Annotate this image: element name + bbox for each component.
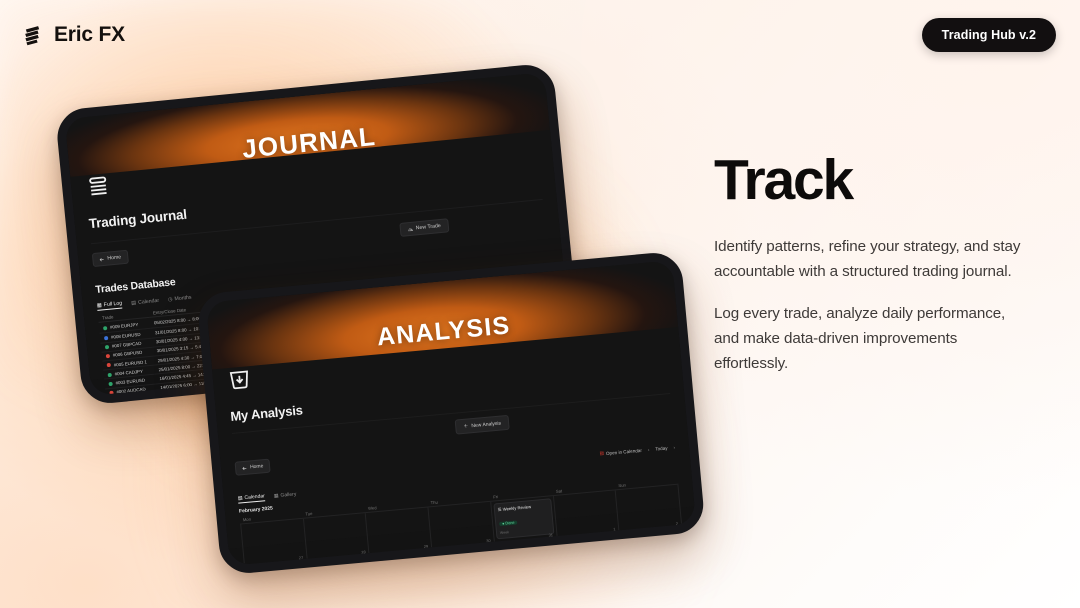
analysis-tab-gallery-label: Gallery	[280, 491, 296, 498]
analysis-screen: ANALYSIS My Analysis ＋ New Analysis	[206, 260, 696, 565]
calendar-red-icon: ▤	[599, 450, 604, 456]
journal-tab-calendar-label: Calendar	[138, 298, 160, 306]
calendar-event-card[interactable]: ☰ Weekly Review● DoneWeek	[493, 498, 554, 539]
stack-layers-icon	[84, 173, 112, 201]
top-bar: Eric FX Trading Hub v.2	[0, 0, 1080, 70]
calendar-event-card[interactable]: ☰ Weekly Outlook● DoneWeek	[247, 563, 308, 565]
calendar-day-cell[interactable]: 27	[241, 519, 307, 566]
journal-new-trade-button[interactable]: New Trade	[399, 218, 449, 237]
journal-tab-calendar[interactable]: ▤ Calendar	[131, 298, 159, 307]
journal-tab-full-log[interactable]: ▦ Full Log	[97, 300, 123, 310]
calendar-today-button[interactable]: Today	[655, 445, 668, 451]
row-status-dot	[109, 391, 113, 395]
calendar-day-number: 27	[298, 555, 303, 560]
calendar-next-button[interactable]: ›	[673, 444, 675, 449]
back-arrow-icon	[99, 256, 104, 261]
analysis-tablet[interactable]: ANALYSIS My Analysis ＋ New Analysis	[196, 251, 706, 576]
journal-new-trade-label: New Trade	[416, 223, 442, 231]
analysis-tab-calendar-label: Calendar	[244, 493, 265, 501]
calendar-day-cell[interactable]: 1	[554, 490, 620, 538]
inbox-tray-down-icon	[226, 366, 253, 393]
journal-tab-months[interactable]: ◷ Months	[168, 295, 192, 303]
copy-block: Track Identify patterns, refine your str…	[714, 152, 1034, 376]
calendar-day-cell[interactable]: 28	[304, 513, 370, 561]
journal-tab-months-label: Months	[174, 295, 192, 303]
layered-slash-logo-icon	[20, 23, 45, 48]
journal-home-label: Home	[107, 254, 121, 261]
row-status-dot	[103, 326, 107, 330]
row-status-dot	[104, 336, 108, 340]
journal-tab-full-log-label: Full Log	[104, 300, 123, 308]
table-icon: ▦	[97, 302, 102, 308]
analysis-home-button[interactable]: Home	[235, 459, 271, 476]
plus-icon: ＋	[463, 422, 469, 429]
open-in-calendar-label: Open in Calendar	[606, 447, 642, 455]
chart-bars-icon	[408, 226, 413, 231]
calendar-day-number: 28	[361, 549, 366, 554]
page-title: Track	[714, 152, 1034, 209]
calendar-event-status-badge: ● Done	[499, 520, 518, 526]
calendar-day-number: 29	[423, 543, 428, 548]
trading-hub-badge[interactable]: Trading Hub v.2	[922, 18, 1056, 52]
calendar-prev-button[interactable]: ‹	[648, 447, 650, 452]
calendar-event-sub: Week	[500, 527, 550, 535]
row-status-dot	[105, 345, 109, 349]
calendar-day-number: 1	[613, 526, 616, 531]
calendar-icon: ▤	[238, 495, 243, 501]
calendar-icon: ▤	[131, 300, 136, 306]
clock-icon: ◷	[168, 297, 173, 303]
calendar-day-cell[interactable]: ☰ Weekly Review● DoneWeek31	[491, 496, 557, 544]
copy-paragraph-1: Identify patterns, refine your strategy,…	[714, 235, 1034, 284]
row-status-dot	[108, 372, 112, 376]
calendar-day-number: 30	[486, 537, 491, 542]
back-arrow-icon	[242, 465, 247, 470]
brand-logo[interactable]: Eric FX	[20, 23, 125, 48]
calendar-event-title: ☰ Weekly Review	[498, 502, 548, 511]
analysis-tab-calendar[interactable]: ▤ Calendar	[238, 493, 266, 503]
analysis-new-analysis-button[interactable]: ＋ New Analysis	[455, 415, 510, 435]
gallery-icon: ▦	[274, 493, 279, 499]
analysis-tab-gallery[interactable]: ▦ Gallery	[274, 491, 297, 499]
row-status-dot	[107, 363, 111, 367]
copy-paragraph-2: Log every trade, analyze daily performan…	[714, 302, 1034, 376]
analysis-new-analysis-label: New Analysis	[471, 420, 501, 429]
calendar-day-cell[interactable]: 2	[616, 485, 682, 533]
calendar-day-number: 31	[548, 532, 553, 537]
analysis-home-label: Home	[250, 463, 264, 470]
row-status-dot	[106, 354, 110, 358]
row-status-dot	[108, 382, 112, 386]
brand-name: Eric FX	[54, 23, 125, 47]
calendar-day-cell[interactable]: 29	[366, 507, 432, 555]
open-in-calendar-button[interactable]: ▤ Open in Calendar	[599, 447, 642, 457]
calendar-day-cell[interactable]: 30	[429, 502, 495, 550]
calendar-day-number: 2	[675, 520, 678, 525]
journal-home-button[interactable]: Home	[92, 250, 129, 267]
